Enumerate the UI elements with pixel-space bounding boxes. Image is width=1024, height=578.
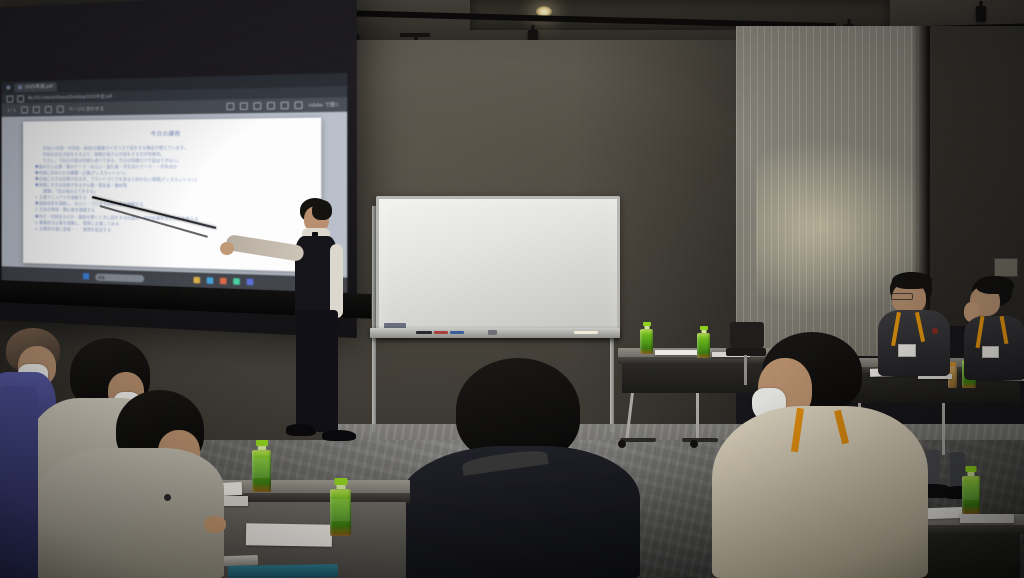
start-button-icon[interactable]: [82, 273, 88, 279]
glasses-icon: [891, 293, 913, 300]
save-icon[interactable]: [294, 101, 302, 109]
open-in-adobe-label[interactable]: Adobe で開く: [308, 101, 340, 108]
table-caster: [690, 440, 698, 448]
presenter: [278, 198, 368, 458]
green-tea-bottle[interactable]: [330, 478, 351, 536]
attendee-left-front: [34, 390, 224, 578]
seminar-room-photo: 2025年度.pdf file:///C:/Users/Shared/Deskt…: [0, 0, 1024, 578]
green-tea-bottle[interactable]: [962, 466, 980, 514]
presenter-leg-right: [316, 310, 338, 432]
presenter-hand: [220, 242, 234, 255]
zoom-in-icon[interactable]: [32, 106, 39, 113]
attendee-torso: [34, 448, 224, 578]
attendee-right-front: [712, 332, 928, 578]
green-tea-bottle[interactable]: [252, 440, 271, 492]
presenter-leg-left: [296, 310, 318, 428]
handout-papers[interactable]: [655, 350, 697, 355]
attendee-torso: [712, 406, 928, 578]
zoom-out-icon[interactable]: [21, 106, 28, 113]
marker-black[interactable]: [416, 331, 432, 334]
pdf-file-icon: [18, 85, 22, 89]
reload-icon[interactable]: [17, 95, 24, 102]
highlight-icon[interactable]: [240, 102, 248, 110]
attendee-right-rear-2: [964, 276, 1024, 386]
jacket-logo: [932, 328, 938, 334]
document-title: 今日の課題: [35, 129, 307, 139]
browser-icon[interactable]: [206, 277, 213, 284]
name-badge: [982, 346, 999, 358]
presenter-shoe-left: [286, 424, 316, 436]
presenter-sleeve-right: [330, 244, 343, 318]
print-icon[interactable]: [281, 102, 289, 110]
handout-papers[interactable]: [960, 514, 1014, 523]
whiteboard-marker-tray: [370, 328, 620, 338]
table-leg: [696, 393, 699, 441]
tab-title: 2025年度.pdf: [25, 83, 53, 90]
file-explorer-icon[interactable]: [193, 277, 200, 284]
taskbar-search-input[interactable]: 検索: [95, 273, 144, 282]
attendee-writing-hand: [204, 516, 226, 533]
jacket-button: [164, 494, 171, 501]
teal-binder[interactable]: [228, 564, 338, 578]
attendee-hair-top: [976, 276, 1014, 294]
back-arrow-icon[interactable]: [6, 95, 13, 102]
attendee-center-front: [398, 358, 640, 578]
browser-tab[interactable]: 2025年度.pdf: [14, 82, 57, 92]
marker-blue[interactable]: [450, 331, 464, 334]
erase-icon[interactable]: [253, 102, 261, 110]
read-aloud-icon[interactable]: [267, 102, 275, 110]
table-leg: [942, 403, 945, 455]
zoom-label[interactable]: ページに合わせる: [68, 105, 104, 112]
tray-clip: [488, 330, 497, 335]
whiteboard-surface[interactable]: [376, 196, 620, 338]
attendee-hair-top: [892, 272, 932, 289]
fit-page-icon[interactable]: [44, 106, 51, 113]
teams-icon[interactable]: [246, 279, 253, 286]
rotate-icon[interactable]: [56, 106, 63, 113]
green-tea-bottle[interactable]: [697, 326, 710, 358]
attendee-left-edge: [0, 386, 38, 578]
green-tea-bottle[interactable]: [640, 322, 653, 354]
tab-favicon-icon: [6, 86, 10, 90]
marker-red[interactable]: [434, 331, 448, 334]
handout-papers[interactable]: [246, 523, 332, 546]
wall-outlet-plate: [994, 258, 1018, 277]
presenter-hair-back: [312, 200, 332, 220]
store-icon[interactable]: [233, 278, 240, 285]
mail-icon[interactable]: [219, 278, 226, 285]
page-indicator: 1 / 1: [7, 108, 15, 113]
address-input[interactable]: file:///C:/Users/Shared/Desktop/2025年度.p…: [28, 93, 112, 101]
marker-white[interactable]: [574, 331, 598, 334]
draw-icon[interactable]: [226, 103, 234, 111]
presenter-shoe-right: [322, 430, 356, 441]
track-spot-7-icon: [976, 6, 986, 22]
